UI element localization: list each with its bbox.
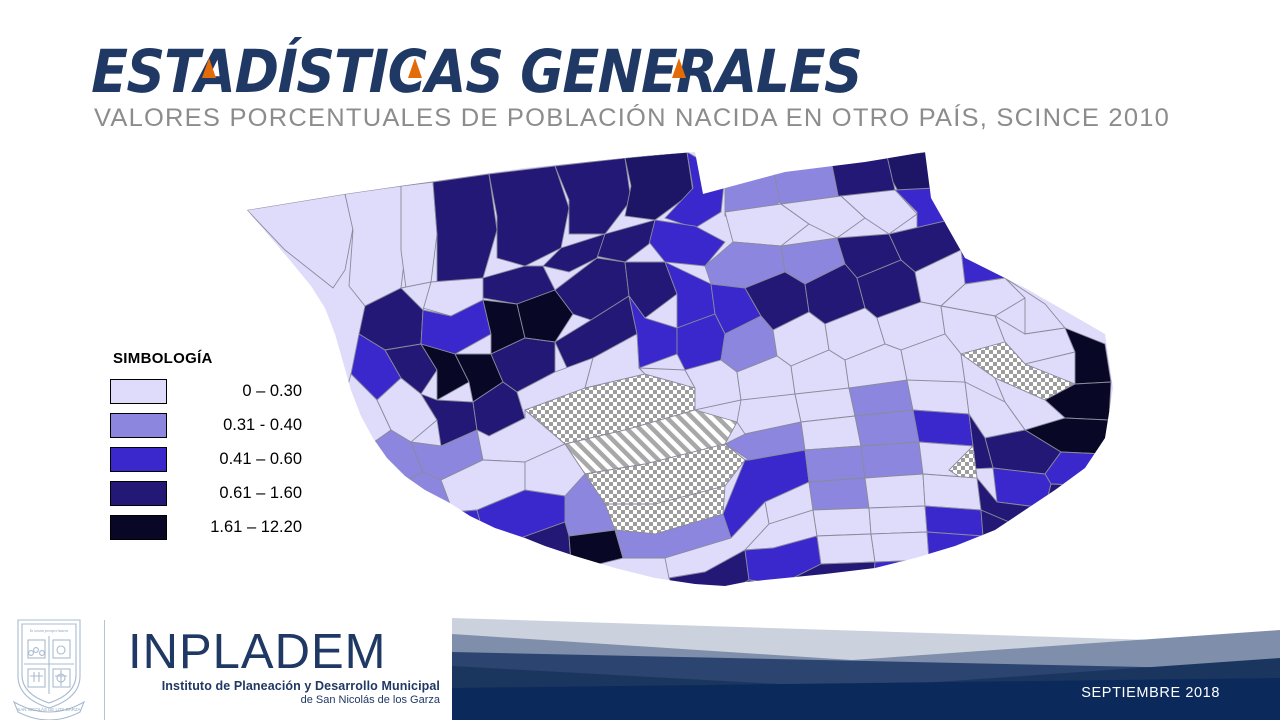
page-title: ESTADÍSTICAS GENERALES: [91, 38, 862, 106]
logo-divider: [104, 620, 105, 720]
date-label: SEPTIEMBRE 2018: [1081, 685, 1220, 701]
inpladem-logo: INPLADEM Instituto de Planeación y Desar…: [128, 628, 440, 706]
crest-banner-text: SAN NICOLÁS DE LOS GARZA: [17, 707, 80, 712]
municipal-crest-icon: SAN NICOLÁS DE LOS GARZA In unum prosper…: [6, 606, 92, 720]
page-title-text: ESTADÍSTICAS GENERALES: [91, 38, 862, 106]
footer-wave-banner: SEPTIEMBRE 2018: [452, 604, 1280, 720]
legend-swatch: [110, 481, 167, 506]
inpladem-tagline-secondary: de San Nicolás de los Garza: [128, 694, 440, 706]
map-svg: [225, 138, 1135, 608]
legend-swatch: [110, 379, 167, 404]
crest-motto-text: In unum prosperitatem: [29, 628, 68, 633]
page-subtitle: VALORES PORCENTUALES DE POBLACIÓN NACIDA…: [94, 104, 1170, 133]
choropleth-map: [225, 138, 1135, 608]
legend-swatch: [110, 515, 167, 540]
map-polygons: [225, 138, 1135, 608]
legend-swatch: [110, 413, 167, 438]
inpladem-tagline-primary: Instituto de Planeación y Desarrollo Mun…: [128, 679, 440, 693]
footer-wave-svg: [452, 604, 1280, 720]
crest-svg: SAN NICOLÁS DE LOS GARZA In unum prosper…: [6, 606, 92, 720]
inpladem-wordmark: INPLADEM: [128, 628, 440, 677]
legend-swatch: [110, 447, 167, 472]
